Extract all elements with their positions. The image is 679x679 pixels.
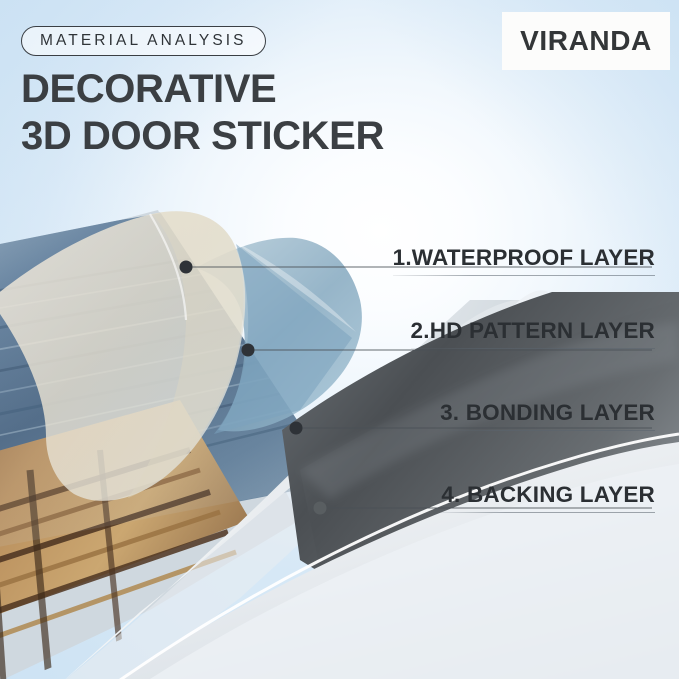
page-title: DECORATIVE 3D DOOR STICKER	[21, 66, 384, 160]
eyebrow-pill: MATERIAL ANALYSIS	[21, 26, 266, 56]
callout-layer-3-label: 3. BONDING LAYER	[440, 400, 655, 425]
callout-layer-2-rule	[411, 348, 655, 349]
brand-plate: VIRANDA	[502, 12, 670, 70]
callout-layer-4-rule	[441, 512, 655, 513]
headline-line-2: 3D DOOR STICKER	[21, 113, 384, 160]
hd-pattern-film	[196, 238, 362, 434]
backing-layer-light	[92, 434, 679, 679]
callout-dot-layer-2	[242, 344, 255, 357]
poster-canvas: MATERIAL ANALYSIS DECORATIVE 3D DOOR STI…	[0, 0, 679, 679]
callout-dot-layer-3	[290, 422, 303, 435]
callout-leader-lines	[186, 267, 652, 508]
callout-layer-4: 4. BACKING LAYER	[441, 482, 655, 513]
callout-layer-3: 3. BONDING LAYER	[440, 400, 655, 431]
callout-layer-2-label: 2.HD PATTERN LAYER	[411, 318, 655, 343]
waterproof-film	[0, 211, 245, 501]
brand-name: VIRANDA	[520, 25, 652, 57]
eyebrow-label: MATERIAL ANALYSIS	[40, 32, 247, 50]
callout-layer-2: 2.HD PATTERN LAYER	[411, 318, 655, 349]
callout-layer-4-label: 4. BACKING LAYER	[441, 482, 655, 507]
callout-dot-layer-4	[314, 502, 327, 515]
callout-layer-1: 1.WATERPROOF LAYER	[393, 245, 655, 276]
callout-layer-1-rule	[393, 275, 655, 276]
callout-dot-layer-1	[180, 261, 193, 274]
callout-layer-3-rule	[440, 430, 655, 431]
printed-photo-sheet	[0, 150, 400, 679]
callout-layer-1-label: 1.WATERPROOF LAYER	[393, 245, 655, 270]
headline-line-1: DECORATIVE	[21, 66, 384, 113]
